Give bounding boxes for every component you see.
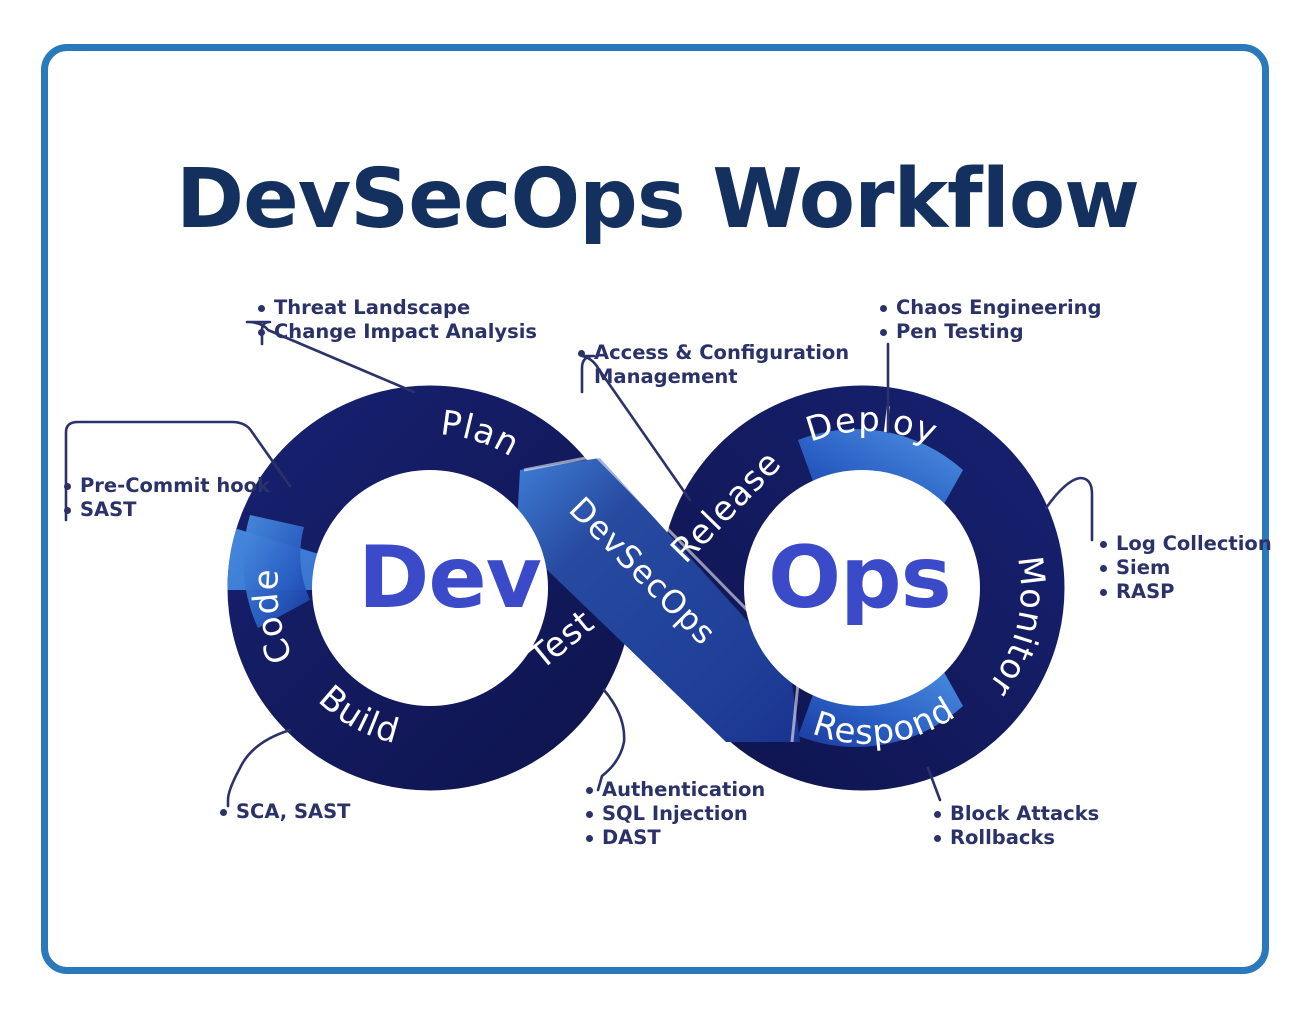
- annotation-item: Block Attacks: [934, 802, 1099, 826]
- annotation-item: Management: [578, 365, 849, 389]
- annotation-monitor: Log Collection Siem RASP: [1100, 532, 1272, 604]
- annotation-item: SAST: [64, 498, 270, 522]
- connector-test: [598, 690, 624, 790]
- connector-build: [228, 730, 290, 806]
- annotation-item: Rollbacks: [934, 826, 1099, 850]
- annotation-respond: Block Attacks Rollbacks: [934, 802, 1099, 850]
- annotation-item: Access & Configuration: [578, 341, 849, 365]
- annotation-item: Siem: [1100, 556, 1272, 580]
- annotation-code: Pre-Commit hook SAST: [64, 474, 270, 522]
- devsecops-workflow-diagram: DevSecOps Workflow: [0, 0, 1315, 1030]
- annotation-release: Access & Configuration Management: [578, 341, 849, 389]
- annotation-plan: Threat Landscape Change Impact Analysis: [258, 296, 537, 344]
- annotation-item: DAST: [586, 826, 765, 850]
- dev-center-label: Dev: [358, 528, 541, 628]
- annotation-item: Authentication: [586, 778, 765, 802]
- annotation-item: Change Impact Analysis: [258, 320, 537, 344]
- annotation-test: Authentication SQL Injection DAST: [586, 778, 765, 850]
- annotation-item: Threat Landscape: [258, 296, 537, 320]
- annotation-item: Chaos Engineering: [880, 296, 1101, 320]
- annotation-item: Log Collection: [1100, 532, 1272, 556]
- annotation-build: SCA, SAST: [220, 800, 351, 824]
- annotation-item: SCA, SAST: [220, 800, 351, 824]
- annotation-deploy: Chaos Engineering Pen Testing: [880, 296, 1101, 344]
- annotation-item: SQL Injection: [586, 802, 765, 826]
- ops-center-label: Ops: [768, 528, 951, 628]
- annotation-item: RASP: [1100, 580, 1272, 604]
- annotation-item: Pen Testing: [880, 320, 1101, 344]
- annotation-item: Pre-Commit hook: [64, 474, 270, 498]
